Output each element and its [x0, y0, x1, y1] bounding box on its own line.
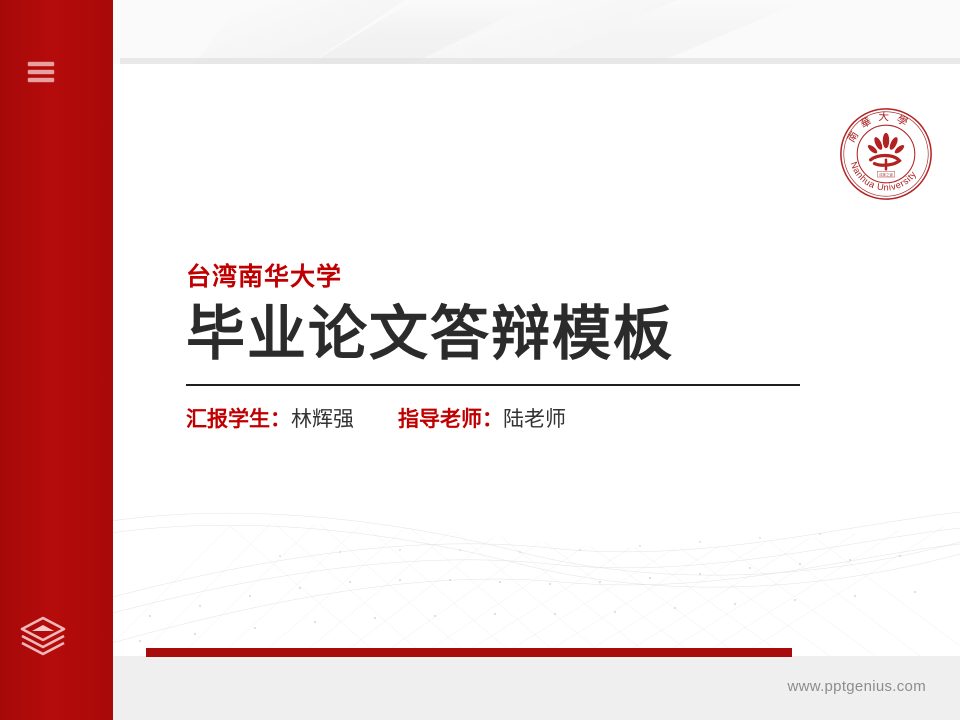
advisor-name: 陆老师 [503, 406, 566, 433]
advisor-label: 指导老师： [398, 406, 503, 433]
student-name: 林辉强 [291, 406, 354, 433]
credits-row: 汇报学生： 林辉强 指导老师： 陆老师 [186, 406, 826, 433]
hamburger-bar [28, 62, 54, 66]
svg-text:南華大學: 南華大學 [845, 110, 916, 145]
footer-url[interactable]: www.pptgenius.com [788, 678, 927, 695]
hamburger-bar [28, 78, 54, 82]
bottom-red-bar [146, 648, 792, 657]
nanhua-university-seal: 南華大學 Nanhua University 成美之道 [838, 106, 934, 202]
svg-text:成美之道: 成美之道 [879, 172, 893, 177]
presentation-slide: 南華大學 Nanhua University 成美之道 台湾南华大学 毕业论文答… [0, 0, 960, 720]
title-block: 台湾南华大学 毕业论文答辩模板 汇报学生： 林辉强 指导老师： 陆老师 [186, 262, 826, 433]
layers-stack-icon[interactable] [18, 614, 68, 658]
title-divider [186, 384, 800, 386]
left-red-rail [0, 0, 113, 720]
hamburger-menu-icon[interactable] [28, 62, 54, 82]
page-title: 毕业论文答辩模板 [186, 304, 826, 366]
wireframe-mesh-decoration [80, 456, 960, 656]
hamburger-bar [28, 70, 54, 74]
university-name: 台湾南华大学 [186, 262, 826, 292]
student-label: 汇报学生： [186, 406, 291, 433]
